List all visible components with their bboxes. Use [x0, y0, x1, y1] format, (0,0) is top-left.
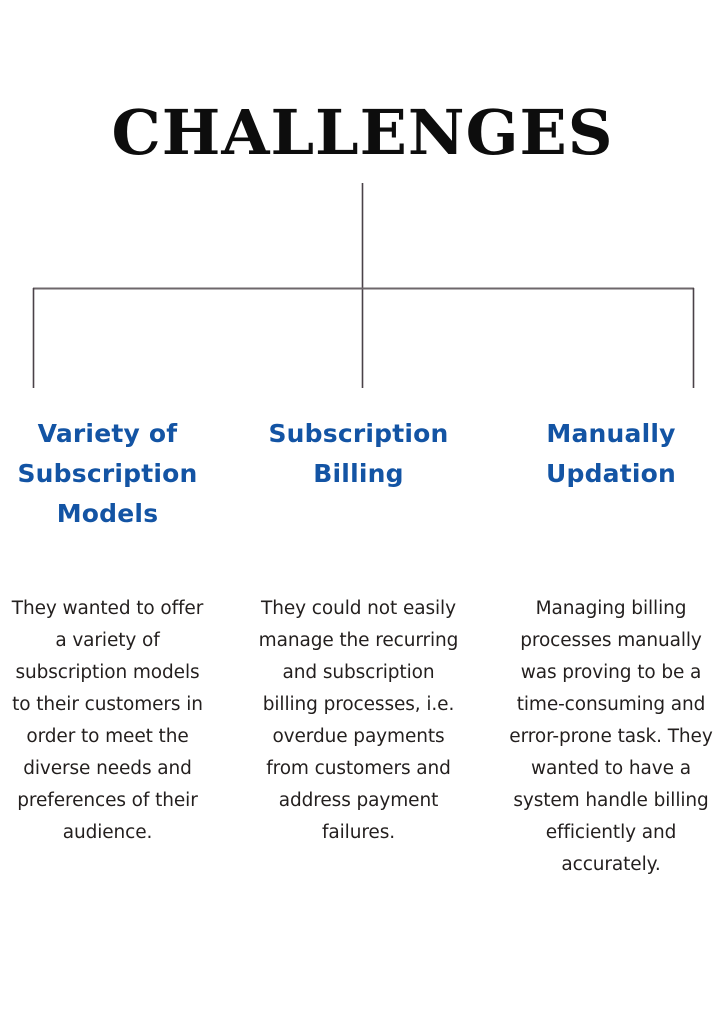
challenge-card-2: Subscription Billing They could not easi…: [253, 414, 465, 849]
page-title: CHALLENGES: [0, 100, 725, 165]
challenge-card-3: Manually Updation Managing billing proce…: [502, 414, 720, 881]
challenge-heading-2: Subscription Billing: [253, 414, 465, 494]
challenge-heading-3: Manually Updation: [502, 414, 720, 494]
challenges-slide: CHALLENGES Variety of Subscription Model…: [0, 0, 725, 1024]
challenge-body-1: They wanted to offer a variety of subscr…: [0, 593, 215, 849]
challenge-body-3: Managing billing processes manually was …: [502, 593, 720, 881]
challenge-card-1: Variety of Subscription Models They want…: [0, 414, 215, 849]
challenge-heading-1: Variety of Subscription Models: [0, 414, 215, 534]
challenge-body-2: They could not easily manage the recurri…: [253, 593, 465, 849]
challenge-columns: Variety of Subscription Models They want…: [0, 414, 725, 881]
